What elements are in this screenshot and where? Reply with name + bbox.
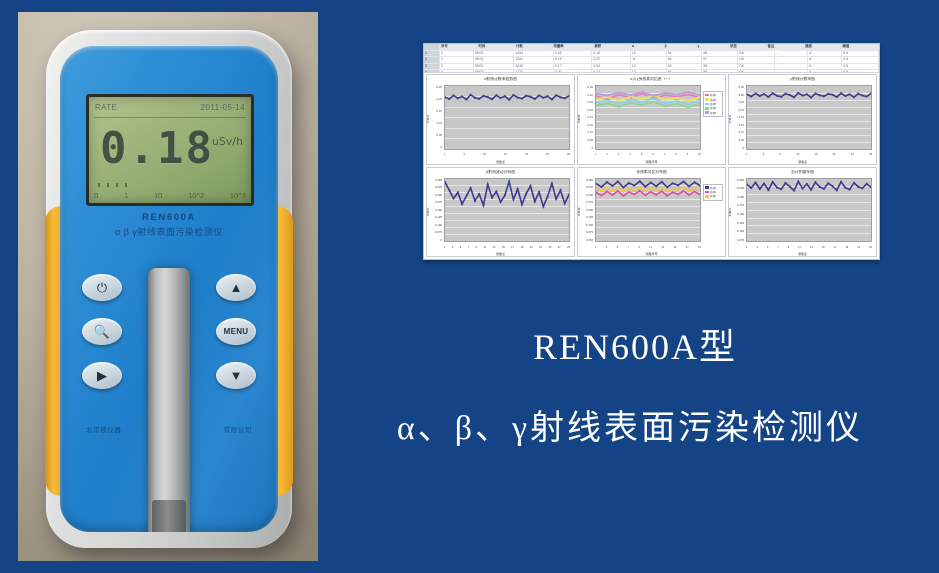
series-marker — [612, 190, 613, 192]
y-tick-label: 0.200 — [435, 193, 442, 197]
series-marker — [508, 99, 510, 101]
series-marker — [483, 204, 485, 206]
series-marker — [763, 93, 765, 95]
table-cell: 4 — [440, 70, 474, 73]
table-row[interactable]: 3309:0212480.170.54133355OK-A0.5 — [424, 64, 879, 71]
chart-title: γ射线计数率图 — [729, 77, 876, 82]
table-cell: 1254 — [514, 51, 554, 57]
charts-grid: α射线计数率趋势图0.250.200.150.100.050计数率1510152… — [426, 74, 877, 257]
series-marker — [612, 194, 613, 196]
y-axis-ticks: 0.2500.2250.2000.1750.1500.1250.1000.075… — [579, 178, 594, 243]
series-marker — [772, 181, 774, 183]
chart-panel[interactable]: 总计剂量率图0.2500.2250.2000.1750.1500.1250.10… — [728, 167, 877, 258]
table-cell: 0.37 — [592, 57, 631, 63]
x-axis-ticks: 135791113151719 — [595, 244, 701, 250]
series-marker — [750, 96, 752, 98]
x-tick-label: 10 — [698, 153, 701, 156]
series-marker — [676, 94, 677, 96]
series-marker — [551, 99, 553, 101]
y-tick-label: 0.050 — [586, 238, 593, 242]
series-marker — [517, 97, 519, 99]
series-marker — [596, 187, 597, 189]
series-marker — [665, 102, 666, 104]
series-marker — [630, 99, 631, 101]
x-tick-label: 17 — [511, 246, 514, 249]
x-tick-label: 17 — [686, 246, 689, 249]
series-marker — [645, 194, 646, 196]
series-marker — [849, 188, 851, 190]
row-index-cell: 4 — [424, 70, 440, 73]
legend-item[interactable]: 系列5 — [705, 111, 721, 115]
x-tick-label: 4 — [629, 153, 630, 156]
series-marker — [596, 102, 597, 104]
table-header-cell: γ — [696, 44, 729, 50]
series-marker — [866, 182, 868, 184]
series-marker — [513, 198, 515, 200]
strap-clip — [152, 500, 186, 532]
y-tick-label: 0.100 — [586, 223, 593, 227]
series-marker — [819, 186, 821, 188]
table-cell: - — [775, 57, 808, 63]
series-marker — [655, 185, 656, 187]
series-marker — [653, 95, 654, 97]
table-cell: 34 — [667, 51, 703, 57]
table-header-cell: 状态 — [729, 44, 766, 50]
search-icon: 🔍 — [94, 325, 110, 338]
device-model-label: REN600A — [60, 212, 278, 223]
series-marker — [688, 94, 689, 96]
series-marker — [688, 190, 689, 192]
series-marker — [618, 92, 619, 94]
series-marker — [551, 182, 553, 184]
series-marker — [474, 200, 476, 202]
series-marker — [618, 106, 619, 108]
data-table[interactable]: 序号时间计数剂量率累积αβγ状态备注通道阈值1109:0012540.180.1… — [424, 44, 879, 73]
table-cell: - — [775, 64, 808, 70]
menu-label: MENU — [224, 327, 249, 336]
table-cell: 0.5 — [842, 70, 879, 73]
series-marker — [534, 98, 536, 100]
series-marker — [793, 189, 795, 191]
y-tick-label: 0.16 — [588, 108, 593, 112]
series-marker — [672, 187, 673, 189]
table-header-row[interactable]: 序号时间计数剂量率累积αβγ状态备注通道阈值 — [424, 44, 879, 51]
row-index-cell: 1 — [424, 51, 440, 57]
series-marker — [606, 181, 607, 183]
series-marker — [641, 91, 642, 93]
lcd-scale-0: 0 — [94, 191, 98, 200]
legend-swatch — [705, 94, 709, 97]
y-axis-title: 计数率 — [728, 115, 732, 124]
chart-title: 多核素对比分布图 — [578, 170, 725, 175]
series-marker — [596, 95, 597, 97]
x-tick-label: 4 — [763, 153, 764, 156]
series-marker — [547, 95, 549, 97]
y-tick-label: 0 — [591, 146, 593, 150]
series-marker — [699, 99, 700, 101]
series-marker — [504, 194, 506, 196]
x-tick-label: 9 — [476, 246, 477, 249]
plot-area — [595, 178, 701, 243]
series-marker — [555, 198, 557, 200]
series-marker — [487, 183, 489, 185]
x-axis-ticks: 1357911131517192123 — [746, 244, 872, 250]
y-axis-title: 计数值 — [577, 115, 581, 124]
x-axis-title: 测量点 — [427, 252, 574, 256]
series-marker — [844, 186, 846, 188]
chart-panel[interactable]: β射线波动分析图0.2500.2250.2000.1750.1500.1250.… — [426, 167, 575, 258]
table-cell: 09:01 — [474, 57, 514, 63]
chart-panel[interactable]: α β γ多核素对比图（一）0.250.220.190.160.130.100.… — [577, 74, 726, 165]
legend-label: 系列3 — [710, 102, 716, 106]
legend-label: 系列4 — [710, 106, 716, 110]
y-tick-label: 0.10 — [588, 123, 593, 127]
series-marker — [487, 96, 489, 98]
series-marker — [676, 100, 677, 102]
y-axis-ticks: 0.2500.2250.2000.1750.1500.1250.1000.075 — [730, 178, 745, 243]
chart-legend[interactable]: 系列1系列2系列3系列4系列5 — [703, 91, 723, 117]
table-cell: 1248 — [514, 64, 554, 70]
series-marker — [665, 92, 666, 94]
x-tick-label: 28 — [869, 153, 872, 156]
table-cell: 12 — [631, 70, 667, 73]
table-row[interactable]: 4409:0312700.200.74123658OK-A0.5 — [424, 70, 879, 73]
table-cell: OK — [738, 51, 775, 57]
series-marker — [521, 203, 523, 205]
up-button[interactable]: ▲ — [216, 274, 256, 301]
table-row[interactable]: 1109:0012540.180.18123456OK-A0.5 — [424, 51, 879, 58]
device-description-label: α β γ射线表面污染检测仪 — [60, 225, 278, 238]
series-marker — [596, 182, 597, 184]
x-tick-label: 29 — [567, 246, 570, 249]
table-header-cell: 累积 — [593, 44, 630, 50]
series-marker — [650, 181, 651, 183]
series-marker — [789, 94, 791, 96]
series-marker — [495, 190, 497, 192]
x-tick-label: 1 — [595, 153, 596, 156]
series-marker — [688, 100, 689, 102]
x-tick-label: 15 — [502, 246, 505, 249]
page-subtitle: α、β、γ射线表面污染检测仪 — [330, 400, 930, 449]
series-marker — [628, 187, 629, 189]
series-marker — [793, 96, 795, 98]
x-tick-label: 19 — [845, 246, 848, 249]
table-cell: 3 — [440, 64, 474, 70]
series-marker — [641, 98, 642, 100]
x-tick-label: 10 — [483, 153, 486, 156]
y-axis-title: 计数值 — [577, 207, 581, 216]
series-marker — [601, 194, 602, 196]
table-cell: 1 — [440, 51, 474, 57]
series-marker — [564, 97, 566, 99]
chart-panel[interactable]: γ射线计数率图0.250.220.190.160.130.100.070.040… — [728, 74, 877, 165]
series-layer — [596, 179, 700, 242]
series-marker — [750, 187, 752, 189]
series-marker — [676, 97, 677, 99]
table-cell: 33 — [667, 64, 703, 70]
series-marker — [628, 182, 629, 184]
x-tick-label: 23 — [869, 246, 872, 249]
series-marker — [789, 185, 791, 187]
series-marker — [612, 185, 613, 187]
power-button[interactable]: ⏻ — [82, 274, 122, 301]
chart-legend[interactable]: 系列1系列2系列3 — [703, 184, 723, 201]
series-marker — [470, 187, 472, 189]
series-marker — [688, 194, 689, 196]
x-tick-label: 11 — [483, 246, 486, 249]
series-marker — [513, 94, 515, 96]
legend-item[interactable]: 系列3 — [705, 194, 721, 198]
down-button[interactable]: ▼ — [216, 362, 256, 389]
y-tick-label: 0.10 — [437, 121, 442, 125]
series-marker — [661, 180, 662, 182]
table-header-cell: 计数 — [515, 44, 552, 50]
x-tick-label: 30 — [567, 153, 570, 156]
series-marker — [755, 93, 757, 95]
series-marker — [857, 185, 859, 187]
table-cell: 12 — [631, 51, 667, 57]
y-tick-label: 0.07 — [739, 130, 744, 134]
series-marker — [666, 190, 667, 192]
series-marker — [641, 93, 642, 95]
series-marker — [639, 185, 640, 187]
handheld-device: RATE 2011-05-14 0.18 uSv/h 0 1 — [46, 30, 292, 548]
y-tick-label: 0.04 — [739, 138, 744, 142]
chart-panel[interactable]: α射线计数率趋势图0.250.200.150.100.050计数率1510152… — [426, 74, 575, 165]
series-marker — [478, 193, 480, 195]
series-marker — [823, 95, 825, 97]
x-tick-label: 5 — [617, 246, 618, 249]
series-marker — [628, 191, 629, 193]
series-marker — [853, 181, 855, 183]
chart-title: α β γ多核素对比图（一） — [578, 77, 725, 82]
y-tick-label: 0.175 — [435, 200, 442, 204]
table-header-cell: 时间 — [477, 44, 514, 50]
series-marker — [857, 93, 859, 95]
y-tick-label: 0.100 — [435, 223, 442, 227]
series-marker — [853, 96, 855, 98]
x-tick-label: 5 — [767, 246, 768, 249]
x-tick-label: 25 — [546, 153, 549, 156]
row-index-cell: 3 — [424, 64, 440, 70]
y-tick-label: 0.150 — [737, 212, 744, 216]
device-model-block: REN600A α β γ射线表面污染检测仪 — [60, 212, 278, 238]
series-marker — [568, 95, 569, 97]
software-screenshot: 序号时间计数剂量率累积αβγ状态备注通道阈值1109:0012540.180.1… — [423, 43, 880, 260]
series-marker — [634, 193, 635, 195]
series-marker — [688, 91, 689, 93]
legend-label: 系列2 — [710, 190, 716, 194]
y-tick-label: 0.200 — [586, 193, 593, 197]
plot-area — [746, 85, 872, 150]
series-marker — [525, 95, 527, 97]
table-header-cell: α — [631, 44, 664, 50]
series-marker — [634, 184, 635, 186]
series-marker — [683, 180, 684, 182]
series-marker — [694, 190, 695, 192]
lcd-scale-4: 10^3 — [230, 191, 246, 200]
series-marker — [755, 181, 757, 183]
series-marker — [538, 191, 540, 193]
x-tick-label: 7 — [468, 246, 469, 249]
table-cell: 13 — [631, 64, 667, 70]
lcd-screen: RATE 2011-05-14 0.18 uSv/h 0 1 — [86, 94, 254, 206]
y-tick-label: 0.15 — [437, 109, 442, 113]
y-tick-label: 0.150 — [586, 208, 593, 212]
x-tick-label: 23 — [539, 246, 542, 249]
series-marker — [555, 94, 557, 96]
table-cell: OK — [738, 64, 775, 70]
series-marker — [772, 92, 774, 94]
hand-strap — [148, 268, 190, 532]
series-line — [596, 181, 700, 187]
power-icon: ⏻ — [97, 281, 107, 294]
table-cell: 09:03 — [474, 70, 514, 73]
x-tick-label: 3 — [756, 246, 757, 249]
series-marker — [517, 188, 519, 190]
table-row[interactable]: 2209:0112610.190.37113557OK-A0.5 — [424, 57, 879, 64]
x-tick-label: 13 — [661, 246, 664, 249]
y-tick-label: 0.07 — [588, 130, 593, 134]
y-tick-label: 0.075 — [737, 238, 744, 242]
series-marker — [645, 190, 646, 192]
x-axis-title: 测量序号 — [578, 160, 725, 164]
play-button[interactable]: ▶ — [82, 362, 122, 389]
series-marker — [665, 94, 666, 96]
y-tick-label: 0.25 — [437, 85, 442, 89]
table-header-cell: 剂量率 — [552, 44, 593, 50]
y-tick-label: 0.175 — [737, 203, 744, 207]
chart-title: α射线计数率趋势图 — [427, 77, 574, 82]
plot-area — [746, 178, 872, 243]
series-layer — [747, 86, 871, 149]
x-axis-ticks: 151015202530 — [444, 152, 570, 158]
x-tick-label: 12 — [796, 153, 799, 156]
y-tick-label: 0.150 — [435, 208, 442, 212]
series-marker — [768, 189, 770, 191]
y-tick-label: 0.175 — [586, 200, 593, 204]
y-tick-label: 0 — [742, 146, 744, 150]
series-marker — [639, 189, 640, 191]
lcd-status-left: RATE — [95, 103, 117, 112]
series-marker — [747, 94, 748, 96]
series-marker — [607, 103, 608, 105]
x-tick-label: 1 — [595, 246, 596, 249]
series-marker — [815, 181, 817, 183]
legend-label: 系列1 — [710, 186, 716, 190]
series-marker — [483, 95, 485, 97]
y-tick-label: 0.075 — [435, 230, 442, 234]
series-marker — [596, 191, 597, 193]
table-cell: 56 — [702, 51, 738, 57]
y-tick-label: 0.250 — [435, 178, 442, 182]
series-marker — [564, 202, 566, 204]
series-marker — [617, 180, 618, 182]
x-tick-label: 1 — [444, 246, 445, 249]
series-marker — [672, 182, 673, 184]
x-tick-label: 11 — [649, 246, 652, 249]
series-marker — [699, 193, 700, 195]
x-tick-label: 25 — [548, 246, 551, 249]
x-tick-label: 2 — [606, 153, 607, 156]
table-cell: 36 — [667, 70, 703, 73]
y-axis-ticks: 0.250.200.150.100.050 — [428, 85, 443, 150]
x-tick-label: 20 — [833, 153, 836, 156]
series-marker — [639, 180, 640, 182]
table-cell: A — [808, 51, 842, 57]
table-cell: 0.20 — [554, 70, 593, 73]
series-marker — [815, 93, 817, 95]
series-marker — [759, 188, 761, 190]
series-marker — [840, 92, 842, 94]
device-faceplate: RATE 2011-05-14 0.18 uSv/h 0 1 — [60, 46, 278, 532]
series-marker — [694, 181, 695, 183]
device-footer: 北京核仪器 有限公司 — [60, 424, 278, 434]
device-footer-right: 有限公司 — [224, 424, 252, 434]
x-tick-label: 6 — [652, 153, 653, 156]
series-marker — [495, 94, 497, 96]
series-marker — [699, 189, 700, 191]
series-marker — [630, 94, 631, 96]
lcd-value: 0.18 — [97, 119, 217, 177]
table-cell: A — [808, 57, 842, 63]
series-marker — [650, 186, 651, 188]
series-marker — [849, 93, 851, 95]
x-tick-label: 9 — [687, 153, 688, 156]
series-marker — [542, 97, 544, 99]
x-tick-label: 8 — [780, 153, 781, 156]
table-cell: 09:00 — [474, 51, 514, 57]
table-cell: 55 — [702, 64, 738, 70]
series-marker — [836, 96, 838, 98]
series-layer — [596, 86, 700, 149]
y-tick-label: 0.225 — [435, 185, 442, 189]
series-marker — [747, 183, 748, 185]
x-tick-label: 1 — [746, 246, 747, 249]
x-tick-label: 3 — [618, 153, 619, 156]
chevron-up-icon: ▲ — [230, 281, 243, 294]
device-footer-left: 北京核仪器 — [86, 424, 122, 434]
menu-button[interactable]: MENU — [216, 318, 256, 345]
search-button[interactable]: 🔍 — [82, 318, 122, 345]
table-header-cell: β — [664, 44, 697, 50]
x-tick-label: 8 — [675, 153, 676, 156]
legend-swatch — [705, 103, 709, 106]
x-tick-label: 5 — [464, 153, 465, 156]
series-marker — [844, 95, 846, 97]
series-marker — [797, 92, 799, 94]
x-tick-label: 7 — [627, 246, 628, 249]
series-marker — [461, 96, 463, 98]
series-marker — [655, 189, 656, 191]
series-marker — [797, 180, 799, 182]
series-marker — [776, 186, 778, 188]
table-cell: A — [808, 64, 842, 70]
series-marker — [666, 194, 667, 196]
y-tick-label: 0 — [440, 238, 442, 242]
table-cell: 09:02 — [474, 64, 514, 70]
series-marker — [601, 190, 602, 192]
series-line — [445, 95, 569, 100]
series-line — [747, 93, 871, 98]
table-cell: 0.19 — [554, 57, 593, 63]
y-tick-label: 0.250 — [586, 178, 593, 182]
chart-panel[interactable]: 多核素对比分布图0.2500.2250.2000.1750.1500.1250.… — [577, 167, 726, 258]
series-marker — [538, 95, 540, 97]
series-layer — [747, 179, 871, 242]
series-line — [747, 181, 871, 190]
y-tick-label: 0.05 — [437, 133, 442, 137]
